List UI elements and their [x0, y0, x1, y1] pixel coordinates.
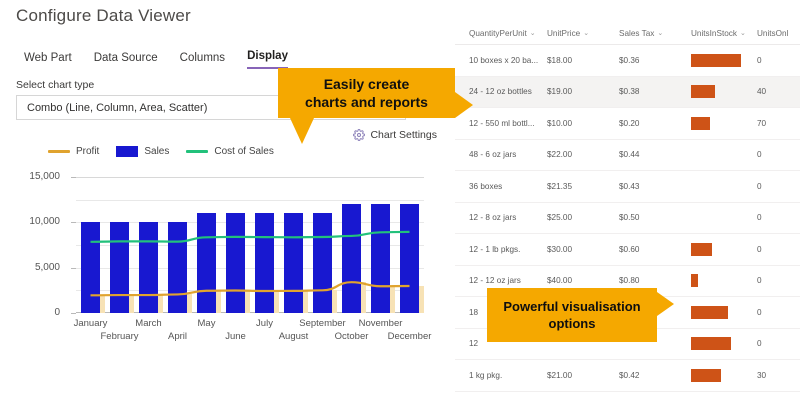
table-row[interactable]: 1 kg pkg.$21.00$0.4230 [455, 360, 800, 392]
x-tick-label: May [177, 318, 237, 329]
legend-label: Profit [76, 146, 99, 157]
cell-unitsinstock [691, 369, 757, 382]
cell-quantityperunit: 12 - 12 oz jars [455, 276, 547, 285]
cell-unitprice: $22.00 [547, 150, 619, 159]
legend-item-profit[interactable]: Profit [48, 146, 99, 157]
y-tick-label: 10,000 [14, 216, 60, 227]
cell-quantityperunit: 12 - 550 ml bottl... [455, 119, 547, 128]
cell-unitsonorder: 70 [757, 119, 800, 128]
cell-quantityperunit: 12 - 1 lb pkgs. [455, 245, 547, 254]
x-tick-label: October [322, 331, 382, 342]
cell-salestax: $0.60 [619, 245, 691, 254]
callout-easily-create-charts: Easily create charts and reports [278, 68, 455, 118]
legend-swatch-line [48, 150, 70, 153]
cell-unitsonorder: 0 [757, 245, 800, 254]
cell-salestax: $0.38 [619, 87, 691, 96]
chevron-down-icon[interactable]: ⌄ [583, 29, 589, 37]
cell-unitsonorder: 0 [757, 308, 800, 317]
chart-line-series [76, 177, 424, 313]
cell-unitsinstock [691, 337, 757, 350]
column-header-unitsinstock[interactable]: UnitsInStock⌄ [691, 29, 757, 38]
gear-icon [353, 129, 365, 141]
column-header-quantityperunit[interactable]: QuantityPerUnit⌄ [455, 29, 547, 38]
cell-salestax: $0.80 [619, 276, 691, 285]
legend-label: Cost of Sales [214, 146, 273, 157]
table-row[interactable]: 12 - 1 lb pkgs.$30.00$0.600 [455, 234, 800, 266]
callout1-line1: Easily create [305, 75, 428, 93]
x-tick-label: January [61, 318, 121, 329]
chart-type-value: Combo (Line, Column, Area, Scatter) [27, 102, 207, 114]
column-header-label: Sales Tax [619, 29, 654, 38]
cell-unitprice: $10.00 [547, 119, 619, 128]
cell-unitsinstock [691, 54, 757, 67]
x-tick-label: June [206, 331, 266, 342]
callout-tail-right [455, 92, 473, 118]
cell-unitsinstock [691, 117, 757, 130]
callout-tail-down [290, 118, 314, 144]
legend-swatch-line [186, 150, 208, 153]
callout2-tail-right [657, 292, 674, 316]
chevron-down-icon[interactable]: ⌄ [530, 29, 536, 37]
cell-quantityperunit: 10 boxes x 20 ba... [455, 56, 547, 65]
legend-label: Sales [144, 146, 169, 157]
chart-settings-label: Chart Settings [370, 129, 437, 141]
units-in-stock-bar [691, 274, 698, 287]
x-tick-label: August [264, 331, 324, 342]
y-tick-label: 0 [14, 307, 60, 318]
cell-unitsonorder: 0 [757, 182, 800, 191]
callout2-line2: options [503, 315, 640, 332]
units-in-stock-bar [691, 54, 741, 67]
cell-unitsonorder: 30 [757, 371, 800, 380]
column-header-label: UnitPrice [547, 29, 580, 38]
cell-salestax: $0.20 [619, 119, 691, 128]
chart-legend: ProfitSalesCost of Sales [48, 146, 274, 157]
tab-display[interactable]: Display [247, 50, 288, 69]
cell-quantityperunit: 36 boxes [455, 182, 547, 191]
cell-unitsonorder: 0 [757, 150, 800, 159]
cell-unitprice: $19.00 [547, 87, 619, 96]
legend-item-sales[interactable]: Sales [116, 146, 169, 157]
table-row[interactable]: 36 boxes$21.35$0.430 [455, 171, 800, 203]
table-row[interactable]: 12 - 550 ml bottl...$10.00$0.2070 [455, 108, 800, 140]
combo-chart: 05,00010,00015,000 JanuaryFebruaryMarchA… [14, 168, 444, 343]
table-row[interactable]: 48 - 6 oz jars$22.00$0.440 [455, 140, 800, 172]
column-header-label: QuantityPerUnit [469, 29, 527, 38]
callout1-line2: charts and reports [305, 93, 428, 111]
x-tick-label: November [351, 318, 411, 329]
table-row[interactable]: 24 - 12 oz bottles$19.00$0.3840 [455, 77, 800, 109]
cell-quantityperunit: 1 kg pkg. [455, 371, 547, 380]
tab-data-source[interactable]: Data Source [94, 52, 158, 69]
y-tick-label: 15,000 [14, 171, 60, 182]
cell-unitsonorder: 0 [757, 56, 800, 65]
x-tick-label: December [380, 331, 440, 342]
chevron-down-icon[interactable]: ⌄ [657, 29, 663, 37]
app-root: Configure Data Viewer Web PartData Sourc… [0, 0, 800, 406]
cell-salestax: $0.42 [619, 371, 691, 380]
cost-of-sales-line [91, 232, 410, 242]
cell-unitprice: $21.00 [547, 371, 619, 380]
cell-quantityperunit: 48 - 6 oz jars [455, 150, 547, 159]
x-tick-label: April [148, 331, 208, 342]
units-in-stock-bar [691, 243, 712, 256]
cell-unitsonorder: 0 [757, 339, 800, 348]
cell-quantityperunit: 12 - 8 oz jars [455, 213, 547, 222]
callout2-line1: Powerful visualisation [503, 298, 640, 315]
chevron-down-icon[interactable]: ⌄ [740, 29, 746, 37]
cell-salestax: $0.44 [619, 150, 691, 159]
plot-area [76, 177, 424, 313]
legend-swatch-bar [116, 146, 138, 157]
table-header-row: QuantityPerUnit⌄UnitPrice⌄Sales Tax⌄Unit… [455, 22, 800, 45]
cell-salestax: $0.43 [619, 182, 691, 191]
cell-unitprice: $30.00 [547, 245, 619, 254]
cell-unitsonorder: 0 [757, 213, 800, 222]
cell-unitsinstock [691, 306, 757, 319]
units-in-stock-bar [691, 337, 731, 350]
cell-salestax: $0.50 [619, 213, 691, 222]
column-header-unitprice[interactable]: UnitPrice⌄ [547, 29, 619, 38]
cell-salestax: $0.36 [619, 56, 691, 65]
tab-columns[interactable]: Columns [180, 52, 225, 69]
units-in-stock-bar [691, 117, 710, 130]
tab-bar: Web PartData SourceColumnsDisplay [24, 50, 288, 69]
column-header-label: UnitsOnl [757, 29, 788, 38]
cell-unitsinstock [691, 274, 757, 287]
cell-unitsonorder: 0 [757, 276, 800, 285]
y-tick-label: 5,000 [14, 262, 60, 273]
table-row[interactable]: 12 - 8 oz jars$25.00$0.500 [455, 203, 800, 235]
x-tick-label: July [235, 318, 295, 329]
cell-unitsinstock [691, 243, 757, 256]
legend-item-cost-of-sales[interactable]: Cost of Sales [186, 146, 273, 157]
x-tick-label: September [293, 318, 353, 329]
data-table-panel: QuantityPerUnit⌄UnitPrice⌄Sales Tax⌄Unit… [455, 0, 800, 406]
chart-type-label: Select chart type [16, 79, 94, 91]
profit-line [91, 282, 410, 295]
table-row[interactable]: 10 boxes x 20 ba...$18.00$0.360 [455, 45, 800, 77]
column-header-salestax[interactable]: Sales Tax⌄ [619, 29, 691, 38]
page-title: Configure Data Viewer [16, 6, 191, 26]
x-axis-labels: JanuaryFebruaryMarchAprilMayJuneJulyAugu… [76, 318, 424, 346]
chart-settings-button[interactable]: Chart Settings [353, 129, 437, 141]
configure-panel: Configure Data Viewer Web PartData Sourc… [0, 0, 455, 406]
callout-powerful-visualisation: Powerful visualisation options [487, 288, 657, 342]
units-in-stock-bar [691, 85, 715, 98]
axis-tick [71, 313, 76, 314]
tab-web-part[interactable]: Web Part [24, 52, 72, 69]
cell-unitprice: $18.00 [547, 56, 619, 65]
cell-unitprice: $40.00 [547, 276, 619, 285]
x-tick-label: March [119, 318, 179, 329]
cell-unitsinstock [691, 85, 757, 98]
cell-unitsonorder: 40 [757, 87, 800, 96]
units-in-stock-bar [691, 369, 721, 382]
column-header-label: UnitsInStock [691, 29, 737, 38]
column-header-unitsonorder[interactable]: UnitsOnl [757, 29, 800, 38]
units-in-stock-bar [691, 306, 728, 319]
cell-unitprice: $25.00 [547, 213, 619, 222]
cell-unitprice: $21.35 [547, 182, 619, 191]
x-tick-label: February [90, 331, 150, 342]
